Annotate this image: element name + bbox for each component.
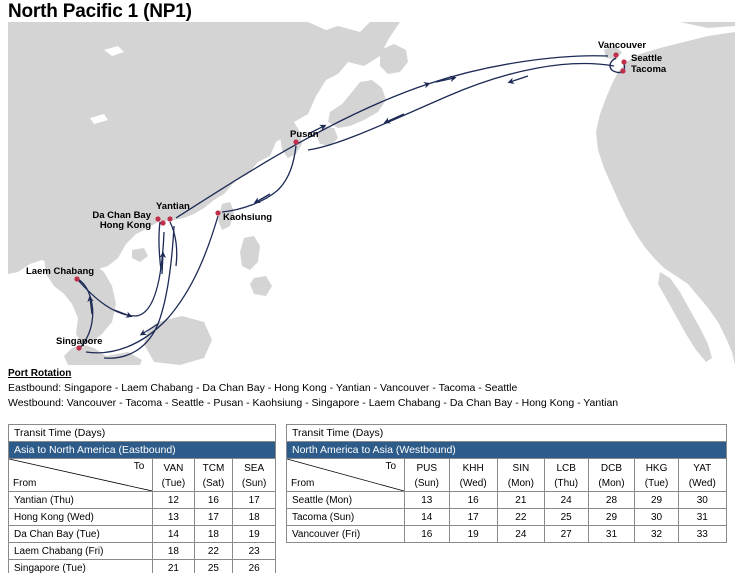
port-marker-hongkong: [160, 220, 165, 225]
table-row: Yantian (Thu) 12 16 17: [9, 492, 276, 509]
cell-value: 13: [405, 492, 449, 509]
cell-value: 18: [194, 526, 233, 543]
cell-value: 24: [544, 492, 588, 509]
cell-value: 24: [497, 526, 544, 543]
cell-value: 31: [588, 526, 635, 543]
port-label-hongkong: Hong Kong: [100, 220, 151, 231]
port-marker-vancouver: [613, 52, 618, 57]
port-rotation-heading: Port Rotation: [8, 368, 728, 379]
cell-value: 17: [233, 492, 276, 509]
transit-time-table-eastbound: Transit Time (Days) Asia to North Americ…: [8, 424, 276, 573]
table-row: Singapore (Tue) 21 25 26: [9, 560, 276, 573]
col-day: (Sun): [407, 476, 446, 491]
port-marker-kaohsiung: [215, 210, 220, 215]
col-code: PUS: [407, 461, 446, 476]
westbound-col-dcb: DCB (Mon): [588, 459, 635, 492]
col-day: (Sun): [235, 476, 273, 491]
cell-value: 16: [449, 492, 497, 509]
cell-value: 22: [497, 509, 544, 526]
cell-value: 27: [544, 526, 588, 543]
col-day: (Mon): [591, 476, 633, 491]
eastbound-corner-to: To: [134, 461, 145, 472]
col-day: (Tue): [155, 476, 191, 491]
table-header-row: To From VAN (Tue) TCM (Sat) SEA (Sun): [9, 459, 276, 492]
cell-value: 21: [497, 492, 544, 509]
cell-value: 14: [405, 509, 449, 526]
col-day: (Sat): [197, 476, 231, 491]
table-row: Vancouver (Fri) 16 19 24 27 31 32 33: [287, 526, 727, 543]
port-marker-tacoma: [620, 68, 625, 73]
eastbound-corner-cell: To From: [9, 459, 153, 492]
cell-value: 21: [153, 560, 194, 573]
eastbound-col-sea: SEA (Sun): [233, 459, 276, 492]
col-code: SIN: [500, 461, 542, 476]
cell-value: 25: [544, 509, 588, 526]
row-label: Seattle (Mon): [287, 492, 405, 509]
eastbound-col-van: VAN (Tue): [153, 459, 194, 492]
cell-value: 31: [678, 509, 726, 526]
port-label-yantian: Yantian: [156, 201, 190, 212]
row-label: Singapore (Tue): [9, 560, 153, 573]
port-marker-dachanbay: [155, 216, 160, 221]
col-day: (Thu): [547, 476, 586, 491]
table-row: Laem Chabang (Fri) 18 22 23: [9, 543, 276, 560]
table-subtitle-row: Asia to North America (Eastbound): [9, 442, 276, 459]
cell-value: 19: [449, 526, 497, 543]
westbound-col-yat: YAT (Wed): [678, 459, 726, 492]
table-row: Tacoma (Sun) 14 17 22 25 29 30 31: [287, 509, 727, 526]
col-code: DCB: [591, 461, 633, 476]
westbound-corner-to: To: [385, 461, 396, 472]
row-label: Yantian (Thu): [9, 492, 153, 509]
cell-value: 29: [588, 509, 635, 526]
cell-value: 16: [405, 526, 449, 543]
col-code: HKG: [637, 461, 675, 476]
cell-value: 33: [678, 526, 726, 543]
cell-value: 19: [233, 526, 276, 543]
col-code: YAT: [681, 461, 724, 476]
port-label-kaohsiung: Kaohsiung: [223, 212, 272, 223]
col-day: (Wed): [681, 476, 724, 491]
westbound-table-title: Transit Time (Days): [287, 425, 727, 442]
westbound-col-khh: KHH (Wed): [449, 459, 497, 492]
cell-value: 17: [194, 509, 233, 526]
cell-value: 13: [153, 509, 194, 526]
westbound-table-subtitle: North America to Asia (Westbound): [287, 442, 727, 459]
port-label-seattle: Seattle: [631, 53, 662, 64]
eastbound-col-tcm: TCM (Sat): [194, 459, 233, 492]
col-code: TCM: [197, 461, 231, 476]
port-label-laemchabang: Laem Chabang: [26, 266, 94, 277]
cell-value: 28: [588, 492, 635, 509]
col-day: (Mon): [500, 476, 542, 491]
westbound-col-hkg: HKG (Tue): [635, 459, 678, 492]
port-marker-yantian: [167, 216, 172, 221]
row-label: Da Chan Bay (Tue): [9, 526, 153, 543]
eastbound-table-subtitle: Asia to North America (Eastbound): [9, 442, 276, 459]
port-label-pusan: Pusan: [290, 129, 319, 140]
port-rotation-westbound: Westbound: Vancouver - Tacoma - Seattle …: [8, 396, 728, 411]
cell-value: 17: [449, 509, 497, 526]
row-label: Tacoma (Sun): [287, 509, 405, 526]
cell-value: 30: [678, 492, 726, 509]
port-label-vancouver: Vancouver: [598, 40, 646, 51]
col-day: (Tue): [637, 476, 675, 491]
page-title-text: North Pacific 1 (NP1): [8, 1, 192, 23]
col-code: VAN: [155, 461, 191, 476]
port-label-tacoma: Tacoma: [631, 64, 667, 75]
row-label: Vancouver (Fri): [287, 526, 405, 543]
port-marker-laemchabang: [74, 276, 79, 281]
westbound-col-lcb: LCB (Thu): [544, 459, 588, 492]
col-code: LCB: [547, 461, 586, 476]
eastbound-corner-from: From: [13, 478, 36, 489]
shipping-service-sheet: North Pacific 1 (NP1): [0, 0, 735, 573]
port-marker-pusan: [293, 139, 298, 144]
port-marker-seattle: [621, 59, 626, 64]
cell-value: 29: [635, 492, 678, 509]
row-label: Laem Chabang (Fri): [9, 543, 153, 560]
port-label-singapore: Singapore: [56, 336, 102, 347]
cell-value: 14: [153, 526, 194, 543]
cell-value: 30: [635, 509, 678, 526]
cell-value: 22: [194, 543, 233, 560]
row-label: Hong Kong (Wed): [9, 509, 153, 526]
cell-value: 26: [233, 560, 276, 573]
cell-value: 12: [153, 492, 194, 509]
cell-value: 18: [153, 543, 194, 560]
table-row: Hong Kong (Wed) 13 17 18: [9, 509, 276, 526]
page-title: North Pacific 1 (NP1): [8, 0, 735, 24]
cell-value: 32: [635, 526, 678, 543]
table-title-row: Transit Time (Days): [9, 425, 276, 442]
eastbound-table-title: Transit Time (Days): [9, 425, 276, 442]
col-day: (Wed): [452, 476, 495, 491]
table-row: Da Chan Bay (Tue) 14 18 19: [9, 526, 276, 543]
port-rotation-eastbound: Eastbound: Singapore - Laem Chabang - Da…: [8, 381, 728, 396]
table-subtitle-row: North America to Asia (Westbound): [287, 442, 727, 459]
table-row: Seattle (Mon) 13 16 21 24 28 29 30: [287, 492, 727, 509]
col-code: SEA: [235, 461, 273, 476]
westbound-corner-cell: To From: [287, 459, 405, 492]
cell-value: 25: [194, 560, 233, 573]
table-title-row: Transit Time (Days): [287, 425, 727, 442]
cell-value: 16: [194, 492, 233, 509]
transit-time-table-westbound: Transit Time (Days) North America to Asi…: [286, 424, 727, 543]
table-header-row: To From PUS (Sun) KHH (Wed) SIN (Mon) LC…: [287, 459, 727, 492]
cell-value: 18: [233, 509, 276, 526]
westbound-corner-from: From: [291, 478, 314, 489]
port-rotation-block: Port Rotation Eastbound: Singapore - Lae…: [8, 368, 728, 411]
cell-value: 23: [233, 543, 276, 560]
westbound-col-sin: SIN (Mon): [497, 459, 544, 492]
westbound-col-pus: PUS (Sun): [405, 459, 449, 492]
col-code: KHH: [452, 461, 495, 476]
route-map: Vancouver Seattle Tacoma Pusan Yantian D…: [8, 22, 735, 365]
